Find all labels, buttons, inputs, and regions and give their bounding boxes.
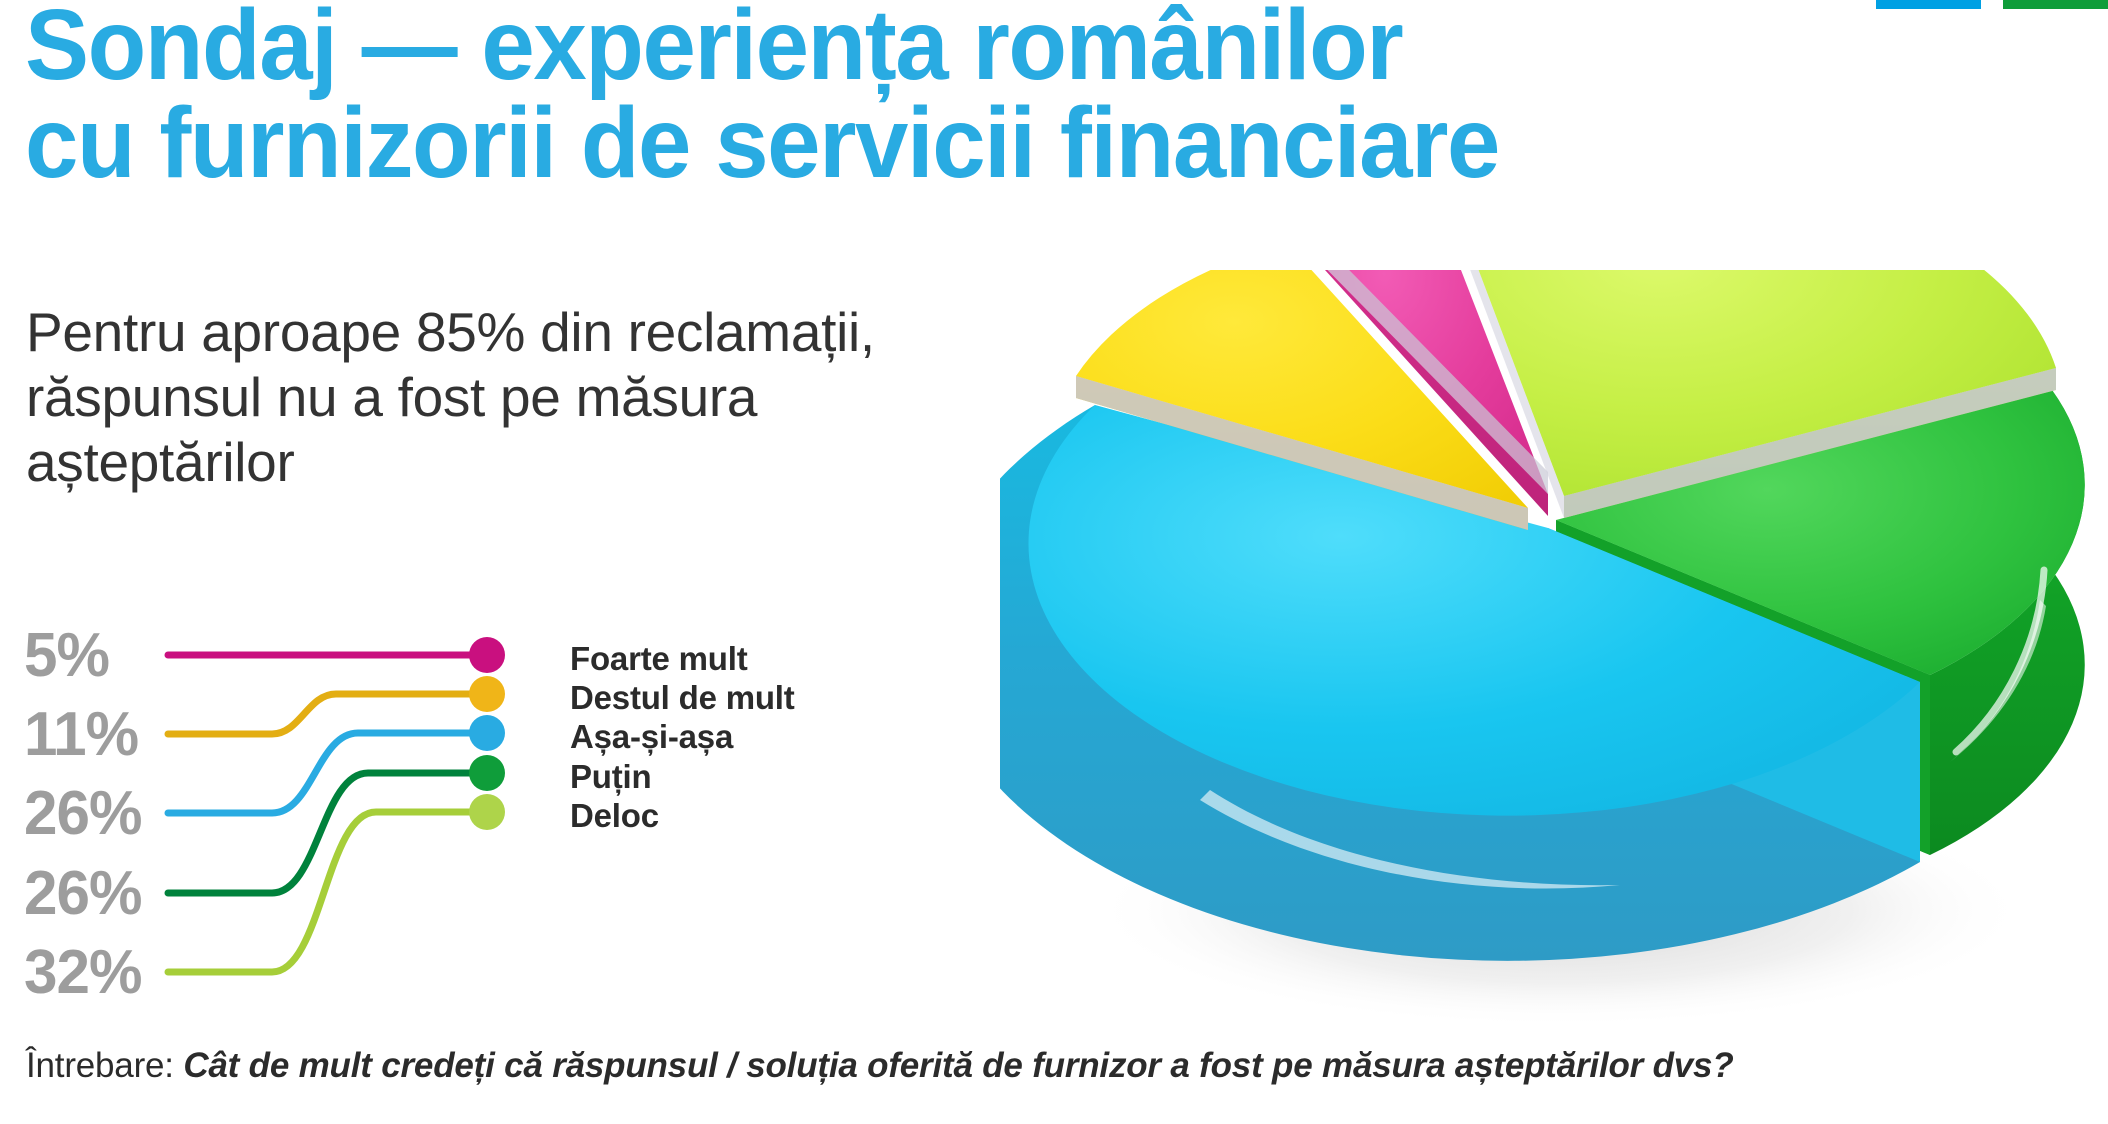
legend-leader-lines [0,600,1020,980]
footer-question: Întrebare: Cât de mult credeți că răspun… [26,1046,2076,1086]
legend-dot-destul-de-mult [469,676,505,712]
legend-label-foarte-mult: Foarte mult [570,642,747,675]
chart-legend: 5% 11% 26% 26% 32% Foarte mult Destul de… [0,600,1020,980]
legend-value-asa-si-asa: 26% [24,783,141,845]
legend-dot-asa-si-asa [469,715,505,751]
leader-line-putin [168,773,470,893]
legend-dot-deloc [469,794,505,830]
legend-dot-foarte-mult [469,637,505,673]
footer-question-lead: Întrebare: [26,1046,183,1085]
legend-dot-putin [469,755,505,791]
infographic-canvas: Sondaj — experiența românilor cu furnizo… [0,0,2108,1124]
legend-value-deloc: 32% [24,942,141,1004]
footer-question-text: Cât de mult credeți că răspunsul / soluț… [183,1046,1733,1085]
page-title: Sondaj — experiența românilor cu furnizo… [25,0,1955,192]
key-finding-subtitle: Pentru aproape 85% din reclamații, răspu… [26,300,1036,495]
legend-label-putin: Puțin [570,760,651,793]
pie-chart-svg [1000,270,2108,1030]
legend-value-destul-de-mult: 11% [24,704,138,766]
legend-value-putin: 26% [24,863,141,925]
leader-line-destul-de-mult [168,694,470,734]
legend-label-deloc: Deloc [570,799,659,832]
legend-label-destul-de-mult: Destul de mult [570,681,795,714]
pie-chart [1000,270,2108,1030]
legend-label-asa-si-asa: Așa-și-așa [570,720,733,753]
legend-value-foarte-mult: 5% [24,625,109,687]
logo-bar-green [2003,0,2108,9]
